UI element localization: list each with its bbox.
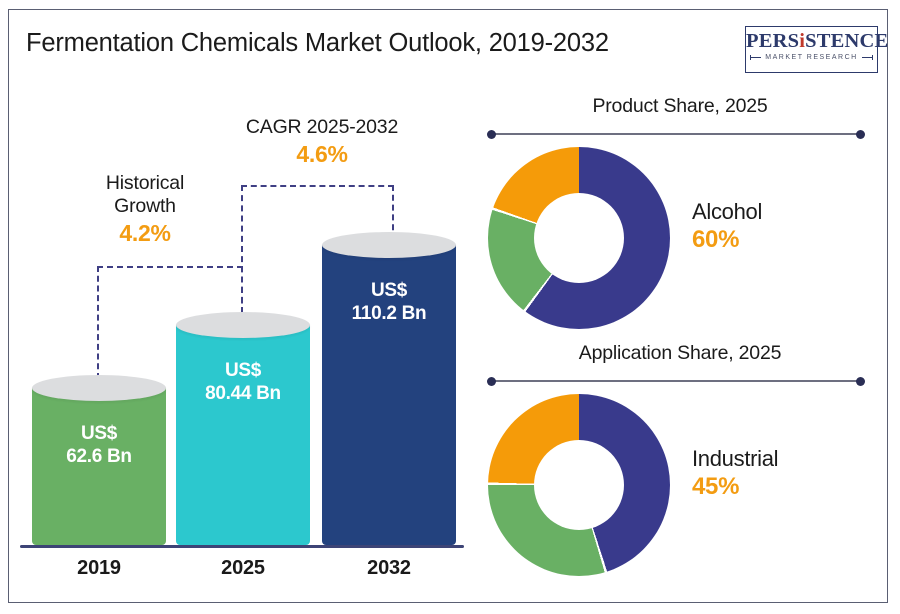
cagr-bracket-top-line — [241, 185, 394, 187]
historical-growth-value: 4.2% — [70, 219, 220, 248]
page-title: Fermentation Chemicals Market Outlook, 2… — [26, 29, 736, 58]
historical-growth-label-line1: Historical — [70, 172, 220, 195]
historical-growth-label-line2: Growth — [70, 195, 220, 218]
bar-chart-axis — [20, 545, 464, 548]
logo-wordmark: PERSiSTENCE — [746, 30, 877, 53]
bar-xlabel-2032: 2032 — [322, 557, 456, 580]
product-share-divider — [490, 133, 862, 135]
bar-2032-value: US$ 110.2 Bn — [322, 279, 456, 325]
bar-2025-body — [176, 325, 310, 545]
bar-2019-value-line2: 62.6 Bn — [32, 445, 166, 468]
bar-2025-value-line1: US$ — [176, 359, 310, 382]
bar-2032[interactable]: US$ 110.2 Bn — [322, 232, 456, 545]
product-share-panel: Product Share, 2025 Alcohol 60% — [480, 95, 880, 340]
logo-tagline: MARKET RESEARCH — [765, 54, 857, 61]
cagr-annotation-value: 4.6% — [222, 140, 422, 169]
product-share-title: Product Share, 2025 — [480, 95, 880, 118]
bar-xlabel-2019: 2019 — [32, 557, 166, 580]
historical-bracket-top-line — [97, 266, 243, 268]
application-share-divider — [490, 380, 862, 382]
persistence-market-research-logo: PERSiSTENCE MARKET RESEARCH — [745, 26, 878, 73]
bar-2032-value-line1: US$ — [322, 279, 456, 302]
bar-2019[interactable]: US$ 62.6 Bn — [32, 375, 166, 545]
application-share-legend-pct: 45% — [692, 472, 778, 502]
cagr-annotation-label: CAGR 2025-2032 — [222, 116, 422, 139]
product-share-donut-hole — [534, 193, 624, 283]
divider-dot-left-icon — [487, 130, 496, 139]
historical-growth-annotation: Historical Growth 4.2% — [70, 172, 220, 248]
infographic-root: Fermentation Chemicals Market Outlook, 2… — [0, 0, 900, 614]
logo-word-part1: PERS — [746, 30, 799, 52]
application-share-legend: Industrial 45% — [692, 445, 778, 502]
product-share-legend-pct: 60% — [692, 225, 762, 255]
logo-rule-left-icon — [750, 57, 761, 58]
product-share-legend: Alcohol 60% — [692, 198, 762, 255]
divider-dot-right-icon — [856, 130, 865, 139]
logo-word-part2: STENCE — [805, 30, 888, 52]
bar-2032-value-line2: 110.2 Bn — [322, 302, 456, 325]
application-share-title: Application Share, 2025 — [480, 342, 880, 365]
bar-chart-panel: CAGR 2025-2032 4.6% Historical Growth 4.… — [10, 90, 470, 590]
application-share-donut-hole — [534, 440, 624, 530]
bar-2025[interactable]: US$ 80.44 Bn — [176, 312, 310, 545]
bar-xlabel-2025: 2025 — [176, 557, 310, 580]
bar-2019-value-line1: US$ — [32, 422, 166, 445]
historical-bracket-left-line — [97, 266, 99, 379]
cagr-annotation: CAGR 2025-2032 4.6% — [222, 116, 422, 169]
bar-2025-value-line2: 80.44 Bn — [176, 382, 310, 405]
bar-2019-value: US$ 62.6 Bn — [32, 422, 166, 468]
bar-2032-cylinder-top — [322, 232, 456, 258]
logo-tagline-row: MARKET RESEARCH — [746, 54, 877, 61]
logo-rule-right-icon — [862, 57, 873, 58]
bar-2019-cylinder-top — [32, 375, 166, 401]
historical-bracket-right-line — [241, 266, 243, 314]
application-share-donut[interactable] — [488, 394, 670, 576]
divider-dot-right-icon — [856, 377, 865, 386]
product-share-legend-name: Alcohol — [692, 198, 762, 225]
divider-dot-left-icon — [487, 377, 496, 386]
bar-2025-cylinder-top — [176, 312, 310, 338]
application-share-legend-name: Industrial — [692, 445, 778, 472]
application-share-panel: Application Share, 2025 Industrial 45% — [480, 342, 880, 587]
product-share-donut[interactable] — [488, 147, 670, 329]
bar-2025-value: US$ 80.44 Bn — [176, 359, 310, 405]
